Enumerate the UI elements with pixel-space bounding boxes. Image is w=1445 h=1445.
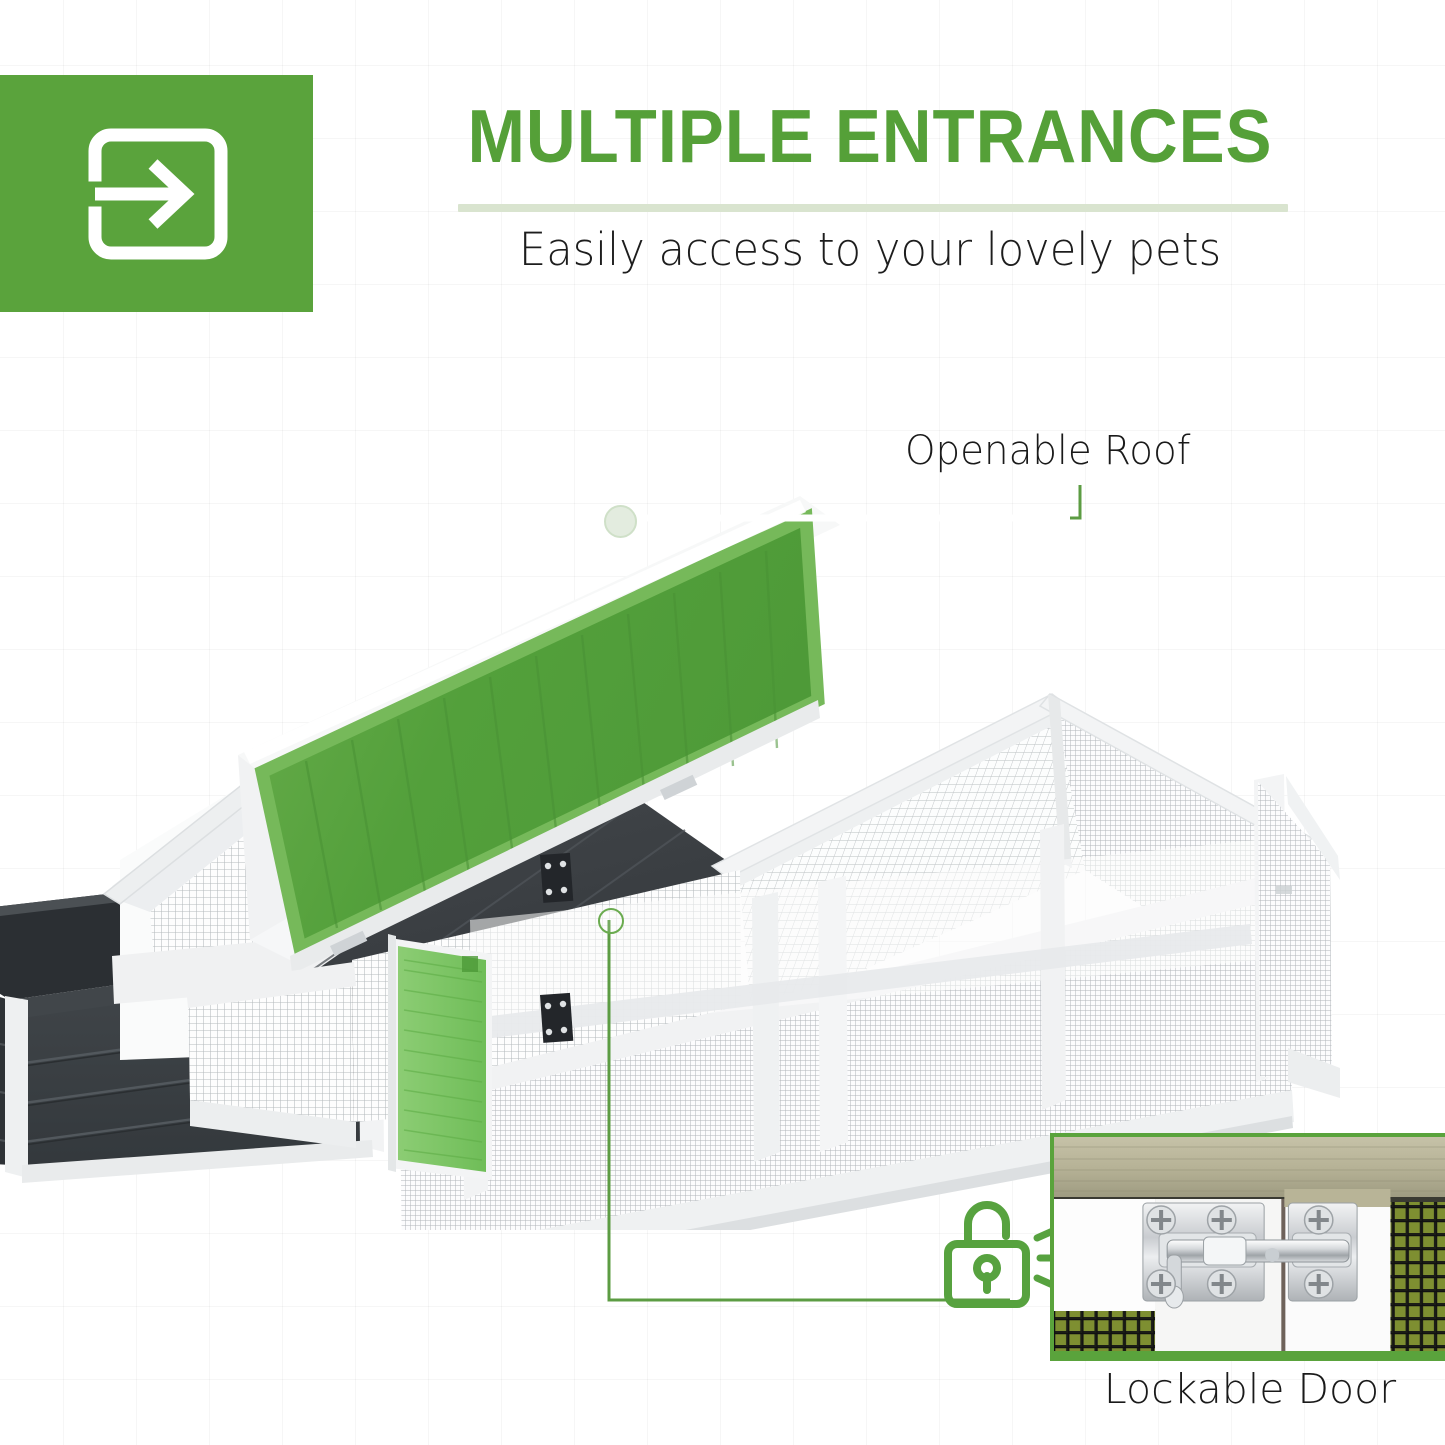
nest-box-post-left	[5, 996, 28, 1178]
title-divider	[458, 204, 1288, 212]
door-hinge-edge	[388, 934, 396, 1172]
house-left-wall	[186, 962, 356, 1148]
callout-lockable-door-marker	[598, 908, 624, 934]
callout-openable-roof-marker	[604, 505, 637, 538]
callout-openable-roof-label: Openable Roof	[905, 428, 1190, 474]
green-side-door[interactable]	[388, 934, 492, 1180]
infographic-page: MULTIPLE ENTRANCES Easily access to your…	[0, 0, 1445, 1445]
lockable-door-closeup-image	[1050, 1133, 1445, 1361]
run-right-end-mesh	[1258, 782, 1332, 1090]
page-subtitle: Easily access to your lovely pets	[438, 222, 1302, 278]
callout-openable-roof-leader	[600, 485, 1120, 545]
page-title: MULTIPLE ENTRANCES	[456, 96, 1284, 176]
hinge-lower	[540, 993, 573, 1043]
open-padlock-icon	[938, 1186, 1066, 1314]
callout-lockable-door-label: Lockable Door	[1055, 1364, 1445, 1414]
header-icon-badge	[0, 75, 313, 312]
hinge-upper	[540, 853, 573, 903]
brand-mark	[1276, 886, 1292, 894]
door-logo	[462, 956, 478, 972]
